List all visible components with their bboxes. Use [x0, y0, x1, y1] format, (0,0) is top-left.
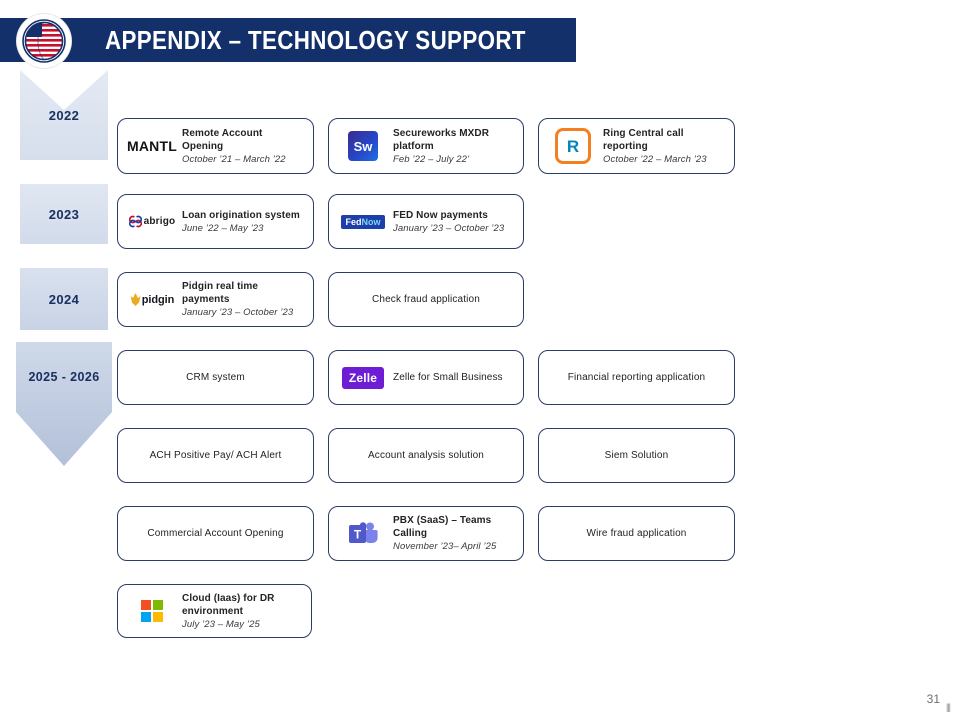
card-ringcentral-call-reporting[interactable]: R Ring Central call reporting October ’2…	[538, 118, 735, 174]
card-text: FED Now payments January ’23 – October ’…	[387, 209, 523, 235]
card-ach-positive-pay[interactable]: ACH Positive Pay/ ACH Alert	[117, 428, 314, 483]
microsoft-logo-icon	[128, 593, 176, 629]
circular-us-flag-logo	[17, 14, 71, 68]
card-subtitle: June ’22 – May ’23	[182, 222, 305, 235]
secureworks-logo-icon: Sw	[339, 128, 387, 164]
card-account-analysis-solution[interactable]: Account analysis solution	[328, 428, 524, 483]
card-wire-fraud-application[interactable]: Wire fraud application	[538, 506, 735, 561]
abrigo-mark-icon	[129, 215, 142, 228]
footer-glyph: |||	[946, 702, 950, 712]
zelle-logo-text: Zelle	[342, 367, 384, 389]
card-subtitle: Feb ’22 – July 22’	[393, 153, 515, 166]
abrigo-logo-text: abrigo	[144, 216, 176, 227]
timeline-band-label: 2023	[49, 207, 80, 222]
card-title: CRM system	[118, 372, 313, 383]
card-text: Remote Account Opening October ’21 – Mar…	[176, 127, 313, 166]
card-title: Remote Account Opening	[182, 127, 305, 153]
timeline-band-2023: 2023	[20, 184, 108, 244]
card-secureworks-mxdr[interactable]: Sw Secureworks MXDR platform Feb ’22 – J…	[328, 118, 524, 174]
card-subtitle: January ’23 – October ’23	[393, 222, 515, 235]
card-pbx-teams-calling[interactable]: T PBX (SaaS) – Teams Calling November ’2…	[328, 506, 524, 561]
card-subtitle: October ’22 – March ’23	[603, 153, 726, 166]
card-title: Secureworks MXDR platform	[393, 127, 515, 153]
card-title: Account analysis solution	[329, 450, 523, 461]
card-title: Commercial Account Opening	[118, 528, 313, 539]
card-text: Cloud (Iaas) for DR environment July ’23…	[176, 592, 311, 631]
card-title: Financial reporting application	[539, 372, 734, 383]
card-zelle-small-business[interactable]: Zelle Zelle for Small Business	[328, 350, 524, 405]
svg-text:T: T	[354, 527, 362, 541]
timeline-arrow-tip	[16, 412, 112, 466]
timeline-band-2022: 2022	[20, 70, 108, 160]
fednow-logo-text-b: Now	[362, 217, 381, 227]
card-text: Ring Central call reporting October ’22 …	[597, 127, 734, 166]
card-title: Siem Solution	[539, 450, 734, 461]
fednow-logo-text-a: Fed	[345, 217, 361, 227]
card-commercial-account-opening[interactable]: Commercial Account Opening	[117, 506, 314, 561]
timeline-band-2024: 2024	[20, 268, 108, 330]
card-subtitle: July ’23 – May ’25	[182, 618, 303, 631]
card-title: Pidgin real time payments	[182, 280, 305, 306]
card-title: Loan origination system	[182, 209, 305, 222]
timeline-band-label: 2024	[49, 292, 80, 307]
secureworks-logo-text: Sw	[348, 131, 378, 161]
timeline-band-2025-2026: 2025 - 2026	[16, 342, 112, 412]
card-text: Secureworks MXDR platform Feb ’22 – July…	[387, 127, 523, 166]
card-text: Loan origination system June ’22 – May ’…	[176, 209, 313, 235]
pidgin-logo-text: pidgin	[142, 294, 174, 306]
slide-header-bar: APPENDIX – TECHNOLOGY SUPPORT	[0, 18, 576, 62]
card-check-fraud-application[interactable]: Check fraud application	[328, 272, 524, 327]
card-subtitle: November ’23– April ’25	[393, 540, 515, 553]
card-subtitle: October ’21 – March ’22	[182, 153, 305, 166]
card-title: Wire fraud application	[539, 528, 734, 539]
card-title: Cloud (Iaas) for DR environment	[182, 592, 303, 618]
card-crm-system[interactable]: CRM system	[117, 350, 314, 405]
card-title: Check fraud application	[329, 294, 523, 305]
card-siem-solution[interactable]: Siem Solution	[538, 428, 735, 483]
pidgin-flame-icon	[130, 293, 141, 307]
ringcentral-logo-icon: R	[549, 128, 597, 164]
card-loan-origination-system[interactable]: abrigo Loan origination system June ’22 …	[117, 194, 314, 249]
card-title: Ring Central call reporting	[603, 127, 726, 153]
card-fed-now-payments[interactable]: FedNow FED Now payments January ’23 – Oc…	[328, 194, 524, 249]
page-title: APPENDIX – TECHNOLOGY SUPPORT	[105, 25, 526, 56]
zelle-logo-icon: Zelle	[339, 360, 387, 396]
timeline-band-label: 2022	[49, 108, 80, 123]
mantl-logo-icon: MANTL	[128, 128, 176, 164]
mantl-logo-text: MANTL	[127, 138, 177, 154]
card-subtitle: January ’23 – October ’23	[182, 306, 305, 319]
timeline-band-label: 2025 - 2026	[28, 370, 99, 384]
card-financial-reporting-application[interactable]: Financial reporting application	[538, 350, 735, 405]
card-title: PBX (SaaS) – Teams Calling	[393, 514, 515, 540]
card-text: Pidgin real time payments January ’23 – …	[176, 280, 313, 319]
card-text: Zelle for Small Business	[387, 371, 523, 384]
card-title: FED Now payments	[393, 209, 515, 222]
pidgin-logo-icon: pidgin	[128, 282, 176, 318]
card-cloud-iaas-dr-environment[interactable]: Cloud (Iaas) for DR environment July ’23…	[117, 584, 312, 638]
card-title: Zelle for Small Business	[393, 371, 515, 384]
page-number: 31	[927, 692, 940, 706]
card-text: PBX (SaaS) – Teams Calling November ’23–…	[387, 514, 523, 553]
card-remote-account-opening[interactable]: MANTL Remote Account Opening October ’21…	[117, 118, 314, 174]
ringcentral-logo-text: R	[555, 128, 591, 164]
card-title: ACH Positive Pay/ ACH Alert	[118, 450, 313, 461]
abrigo-logo-icon: abrigo	[128, 204, 176, 240]
fednow-logo-icon: FedNow	[339, 204, 387, 240]
microsoft-teams-logo-icon: T	[339, 516, 387, 552]
card-pidgin-real-time-payments[interactable]: pidgin Pidgin real time payments January…	[117, 272, 314, 327]
